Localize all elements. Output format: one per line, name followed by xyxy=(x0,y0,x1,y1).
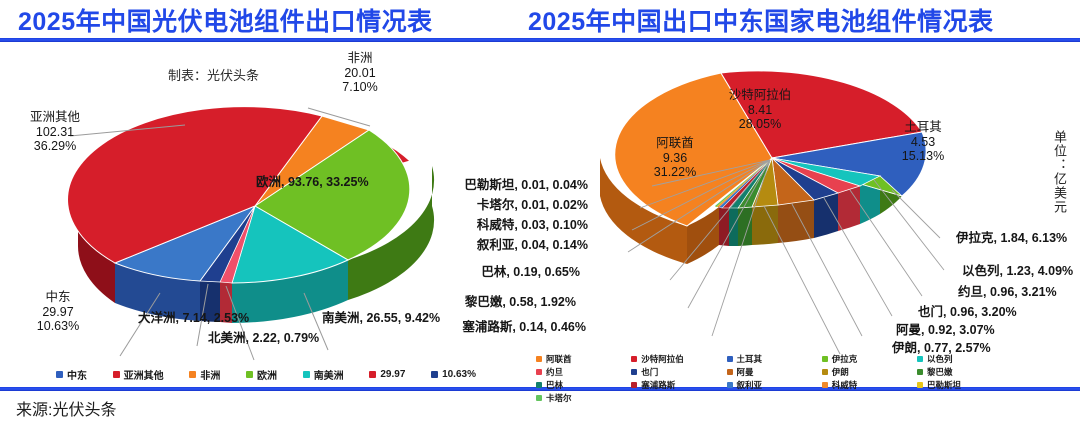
callout-africa: 非洲 20.01 7.10% xyxy=(325,51,395,95)
legend-label: 29.97 xyxy=(380,369,405,380)
callout-iraq: 伊拉克, 1.84, 6.13% xyxy=(956,231,1067,246)
legend-item[interactable]: 土耳其 xyxy=(727,352,822,365)
callout-cyprus: 塞浦路斯, 0.14, 0.46% xyxy=(400,320,586,335)
legend-swatch xyxy=(56,371,63,378)
callout-saudi: 沙特阿拉伯 8.41 28.05% xyxy=(700,88,820,132)
callout-saudi-name: 沙特阿拉伯 xyxy=(700,88,820,103)
left-pie-chart xyxy=(60,88,450,323)
legend-swatch xyxy=(917,382,923,388)
callout-turkey-percent: 15.13% xyxy=(878,149,968,164)
legend-item[interactable]: 中东 xyxy=(56,367,87,382)
page-title-right: 2025年中国出口中东国家电池组件情况表 xyxy=(528,2,994,38)
legend-label: 伊朗 xyxy=(832,366,849,378)
callout-europe: 欧洲, 93.76, 33.25% xyxy=(256,175,369,190)
callout-uae-percent: 31.22% xyxy=(630,165,720,180)
legend-item[interactable]: 阿曼 xyxy=(727,365,822,378)
legend-label: 叙利亚 xyxy=(737,379,763,391)
legend-swatch xyxy=(246,371,253,378)
legend-item[interactable]: 阿联酋 xyxy=(536,352,631,365)
legend-label: 欧洲 xyxy=(257,367,277,382)
unit-label: 单位：亿美元 xyxy=(1050,130,1069,214)
legend-swatch xyxy=(727,382,733,388)
legend-swatch xyxy=(727,356,733,362)
callout-qatar: 卡塔尔, 0.01, 0.02% xyxy=(400,198,588,213)
legend-label: 黎巴嫩 xyxy=(927,366,953,378)
callout-israel: 以色列, 1.23, 4.09% xyxy=(962,264,1073,279)
legend-item[interactable]: 黎巴嫩 xyxy=(917,365,1012,378)
callout-uae: 阿联酋 9.36 31.22% xyxy=(630,136,720,180)
legend-label: 科威特 xyxy=(832,379,858,391)
callout-turkey: 土耳其 4.53 15.13% xyxy=(878,120,968,164)
callout-africa-name: 非洲 xyxy=(325,51,395,66)
legend-label: 也门 xyxy=(641,366,658,378)
right-chart-legend: 阿联酋 沙特阿拉伯 土耳其 伊拉克 以色列 约旦 也门 阿曼 伊朗 黎巴嫩 巴林… xyxy=(536,352,1060,404)
legend-swatch xyxy=(536,395,542,401)
callout-bahrain: 巴林, 0.19, 0.65% xyxy=(400,265,580,280)
source-label: 来源:光伏头条 xyxy=(16,396,116,420)
legend-swatch xyxy=(631,382,637,388)
callout-turkey-name: 土耳其 xyxy=(878,120,968,135)
callout-africa-value: 20.01 xyxy=(325,66,395,81)
legend-swatch xyxy=(631,356,637,362)
legend-item[interactable]: 科威特 xyxy=(822,378,917,391)
legend-swatch xyxy=(631,369,637,375)
legend-item[interactable]: 伊拉克 xyxy=(822,352,917,365)
legend-label: 土耳其 xyxy=(737,353,763,365)
callout-north-america: 北美洲, 2.22, 0.79% xyxy=(208,331,319,346)
legend-item[interactable]: 10.63% xyxy=(431,367,476,382)
legend-label: 塞浦路斯 xyxy=(641,379,675,391)
callout-saudi-percent: 28.05% xyxy=(700,117,820,132)
legend-label: 南美洲 xyxy=(314,367,344,382)
legend-label: 阿曼 xyxy=(737,366,754,378)
legend-swatch xyxy=(536,382,542,388)
legend-swatch xyxy=(369,371,376,378)
callout-kuwait: 科威特, 0.03, 0.10% xyxy=(400,218,588,233)
legend-item[interactable]: 伊朗 xyxy=(822,365,917,378)
legend-label: 沙特阿拉伯 xyxy=(641,353,684,365)
header-divider xyxy=(0,38,1080,42)
left-pie-svg xyxy=(60,88,450,323)
legend-item[interactable]: 叙利亚 xyxy=(727,378,822,391)
legend-label: 伊拉克 xyxy=(832,353,858,365)
legend-label: 10.63% xyxy=(442,369,476,380)
infographic-canvas: 2025年中国光伏电池组件出口情况表 2025年中国出口中东国家电池组件情况表 xyxy=(0,0,1080,425)
legend-item[interactable]: 卡塔尔 xyxy=(536,391,631,404)
legend-item[interactable]: 南美洲 xyxy=(303,367,344,382)
callout-lebanon: 黎巴嫩, 0.58, 1.92% xyxy=(400,295,576,310)
legend-label: 非洲 xyxy=(200,367,220,382)
callout-syria: 叙利亚, 0.04, 0.14% xyxy=(400,238,588,253)
callout-yemen: 也门, 0.96, 3.20% xyxy=(918,305,1017,320)
legend-item[interactable]: 巴勒斯坦 xyxy=(917,378,1012,391)
legend-label: 巴勒斯坦 xyxy=(927,379,961,391)
callout-asia-other: 亚洲其他 102.31 36.29% xyxy=(0,110,110,154)
callout-uae-value: 9.36 xyxy=(630,151,720,166)
legend-swatch xyxy=(189,371,196,378)
callout-palestine: 巴勒斯坦, 0.01, 0.04% xyxy=(400,178,588,193)
legend-item[interactable]: 沙特阿拉伯 xyxy=(631,352,726,365)
legend-swatch xyxy=(113,371,120,378)
left-chart-legend: 中东 亚洲其他 非洲 欧洲 南美洲 29.97 10.63% xyxy=(56,367,476,382)
legend-label: 巴林 xyxy=(546,379,563,391)
callout-uae-name: 阿联酋 xyxy=(630,136,720,151)
legend-label: 阿联酋 xyxy=(546,353,572,365)
legend-item[interactable]: 亚洲其他 xyxy=(113,367,164,382)
callout-mideast-name: 中东 xyxy=(18,290,98,305)
legend-swatch xyxy=(822,356,828,362)
legend-item[interactable]: 29.97 xyxy=(369,367,405,382)
legend-label: 约旦 xyxy=(546,366,563,378)
legend-label: 卡塔尔 xyxy=(546,392,572,404)
legend-swatch xyxy=(822,382,828,388)
legend-item[interactable]: 塞浦路斯 xyxy=(631,378,726,391)
callout-mideast: 中东 29.97 10.63% xyxy=(18,290,98,334)
legend-item[interactable]: 也门 xyxy=(631,365,726,378)
legend-swatch xyxy=(303,371,310,378)
callout-asia-other-value: 102.31 xyxy=(0,125,110,140)
legend-item[interactable]: 非洲 xyxy=(189,367,220,382)
legend-item[interactable]: 以色列 xyxy=(917,352,1012,365)
legend-item[interactable]: 巴林 xyxy=(536,378,631,391)
legend-swatch xyxy=(536,356,542,362)
callout-oceania: 大洋洲, 7.14, 2.53% xyxy=(138,311,249,326)
legend-item[interactable]: 欧洲 xyxy=(246,367,277,382)
callout-asia-other-percent: 36.29% xyxy=(0,139,110,154)
callout-turkey-value: 4.53 xyxy=(878,135,968,150)
callout-mideast-value: 29.97 xyxy=(18,305,98,320)
maker-note: 制表：光伏头条 xyxy=(168,65,259,84)
legend-swatch xyxy=(727,369,733,375)
legend-label: 以色列 xyxy=(927,353,953,365)
legend-item[interactable]: 约旦 xyxy=(536,365,631,378)
legend-label: 中东 xyxy=(67,367,87,382)
legend-label: 亚洲其他 xyxy=(124,367,164,382)
callout-asia-other-name: 亚洲其他 xyxy=(0,110,110,125)
legend-swatch xyxy=(917,356,923,362)
legend-swatch xyxy=(431,371,438,378)
page-title-left: 2025年中国光伏电池组件出口情况表 xyxy=(18,2,433,38)
legend-swatch xyxy=(917,369,923,375)
callout-jordan: 约旦, 0.96, 3.21% xyxy=(958,285,1057,300)
legend-swatch xyxy=(536,369,542,375)
callout-africa-percent: 7.10% xyxy=(325,80,395,95)
callout-oman: 阿曼, 0.92, 3.07% xyxy=(896,323,995,338)
callout-mideast-percent: 10.63% xyxy=(18,319,98,334)
legend-swatch xyxy=(822,369,828,375)
callout-saudi-value: 8.41 xyxy=(700,103,820,118)
